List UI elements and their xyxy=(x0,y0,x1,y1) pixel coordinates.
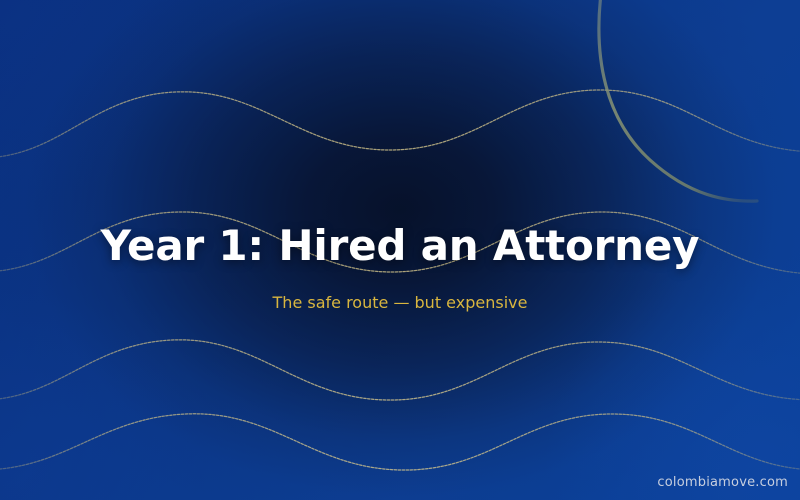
slide-canvas: Year 1: Hired an Attorney The safe route… xyxy=(0,0,800,500)
slide-title: Year 1: Hired an Attorney xyxy=(0,218,800,274)
watermark-label: colombiamove.com xyxy=(657,475,788,490)
slide-content: Year 1: Hired an Attorney The safe route… xyxy=(0,0,800,500)
slide-subtitle: The safe route — but expensive xyxy=(0,292,800,314)
